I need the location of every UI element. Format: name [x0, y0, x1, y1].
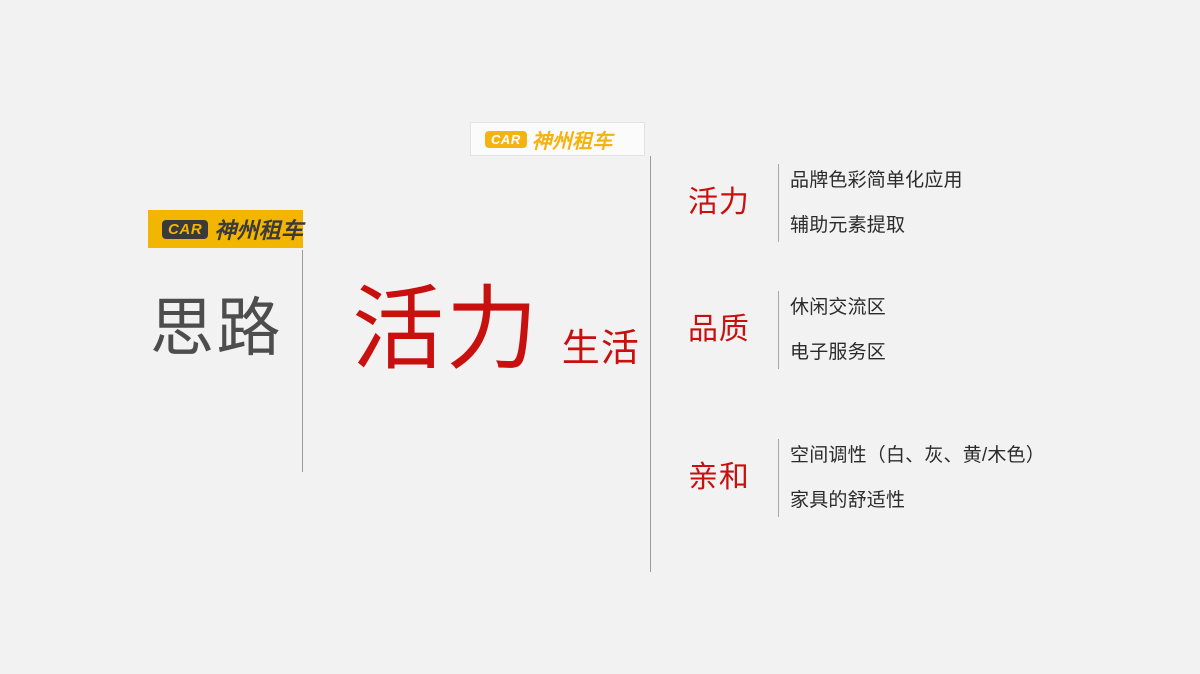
list-item: 电子服务区 — [790, 343, 886, 362]
brand-logo-light: CAR 神州租车 — [470, 122, 645, 156]
group-title: 亲和 — [688, 463, 778, 493]
list-item: 品牌色彩简单化应用 — [790, 171, 963, 190]
divider-center-column — [650, 156, 651, 572]
divider-left-column — [302, 250, 303, 472]
car-badge-icon: CAR — [485, 131, 527, 148]
group-title: 品质 — [688, 315, 778, 345]
brand-logo-wordmark: 神州租车 — [214, 213, 303, 245]
headline-sub-text: 生活 — [562, 330, 640, 368]
group-item-list: 休闲交流区 电子服务区 — [790, 291, 886, 369]
brand-logo-wordmark: 神州租车 — [532, 125, 613, 154]
group-vitality: 活力 品牌色彩简单化应用 辅助元素提取 — [688, 164, 963, 242]
car-badge-icon: CAR — [162, 220, 208, 239]
headline-concept: 活力 生活 — [352, 284, 640, 376]
group-item-list: 品牌色彩简单化应用 辅助元素提取 — [790, 164, 963, 242]
list-item: 空间调性（白、灰、黄/木色） — [790, 446, 1045, 465]
group-title: 活力 — [688, 188, 778, 218]
group-quality: 品质 休闲交流区 电子服务区 — [688, 291, 886, 369]
brand-logo-solid: CAR 神州租车 — [148, 210, 303, 248]
slide-canvas: CAR 神州租车 CAR 神州租车 思路 活力 生活 活力 品牌色彩简单化应用 … — [0, 0, 1200, 674]
list-item: 休闲交流区 — [790, 298, 886, 317]
list-item: 家具的舒适性 — [790, 491, 1045, 510]
group-item-list: 空间调性（白、灰、黄/木色） 家具的舒适性 — [790, 439, 1045, 517]
group-affinity: 亲和 空间调性（白、灰、黄/木色） 家具的舒适性 — [688, 439, 1045, 517]
list-item: 辅助元素提取 — [790, 216, 963, 235]
section-heading-approach: 思路 — [150, 296, 283, 360]
headline-main-text: 活力 — [352, 284, 540, 376]
